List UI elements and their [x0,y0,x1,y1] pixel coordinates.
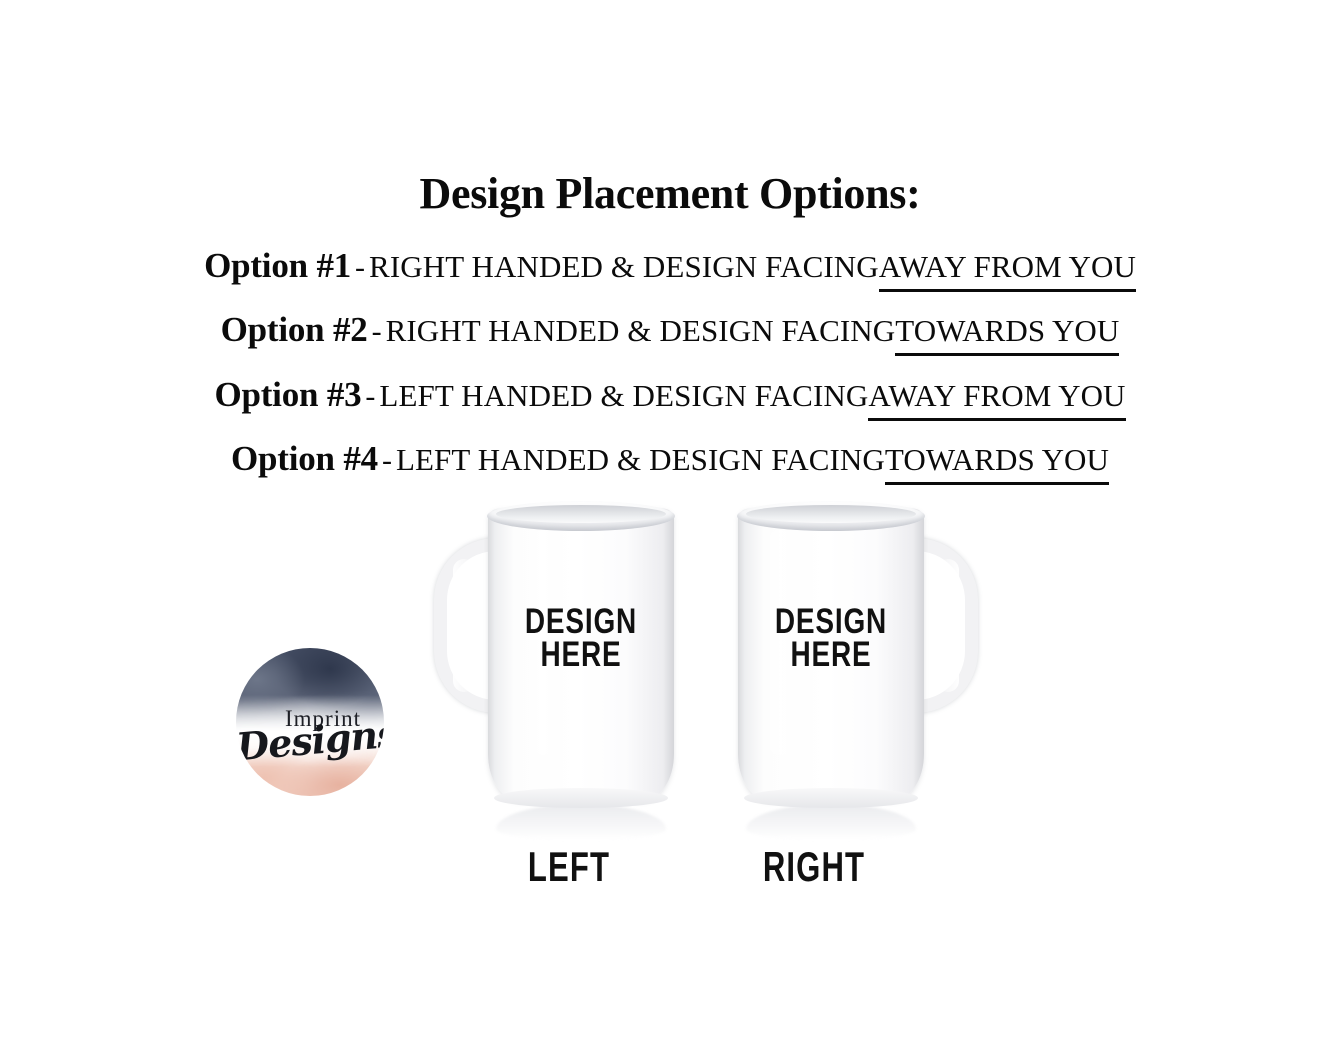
mug-right-print: DESIGN HERE [757,606,906,671]
mug-left-rim [487,501,675,531]
option-3-body: LEFT HANDED & DESIGN FACING [379,378,868,413]
option-3-emphasis: AWAY FROM YOU [868,378,1125,421]
option-4-body: LEFT HANDED & DESIGN FACING [396,442,885,477]
mug-left: DESIGN HERE LEFT [432,508,712,838]
mug-left-caption: LEFT [465,843,672,891]
mug-right-print-line-1: DESIGN [757,606,906,639]
mug-left-reflection [496,804,666,840]
option-line-2: Option #2-RIGHT HANDED & DESIGN FACINGTO… [0,312,1340,347]
option-2-body: RIGHT HANDED & DESIGN FACING [386,313,896,348]
option-3-label: Option #3 [214,375,361,414]
option-line-1: Option #1-RIGHT HANDED & DESIGN FACINGAW… [0,248,1340,283]
mug-left-rim-inner [496,505,666,523]
option-4-label: Option #4 [231,439,378,478]
mug-right-rim-inner [746,505,916,523]
option-1-body: RIGHT HANDED & DESIGN FACING [369,249,879,284]
option-1-dash: - [351,251,369,284]
page-title: Design Placement Options: [0,172,1340,216]
option-line-4: Option #4-LEFT HANDED & DESIGN FACINGTOW… [0,441,1340,476]
mug-right-print-line-2: HERE [757,639,906,672]
mug-right-caption: RIGHT [710,843,917,891]
brand-logo-watermark: Imprint Designs [236,648,384,796]
option-1-label: Option #1 [204,246,351,285]
mug-left-print: DESIGN HERE [507,606,656,671]
option-4-dash: - [378,444,396,477]
mug-right: DESIGN HERE RIGHT [700,508,980,838]
option-4-emphasis: TOWARDS YOU [885,442,1109,485]
mug-right-rim [737,501,925,531]
option-2-emphasis: TOWARDS YOU [895,313,1119,356]
mug-right-reflection [746,804,916,840]
option-2-dash: - [368,315,386,348]
option-1-emphasis: AWAY FROM YOU [879,249,1136,292]
mug-left-base [494,788,668,808]
design-placement-graphic: Design Placement Options: Option #1-RIGH… [0,0,1340,1060]
option-2-label: Option #2 [221,310,368,349]
mug-left-print-line-1: DESIGN [507,606,656,639]
mug-right-base [744,788,918,808]
option-line-3: Option #3-LEFT HANDED & DESIGN FACINGAWA… [0,377,1340,412]
mug-left-print-line-2: HERE [507,639,656,672]
option-3-dash: - [361,380,379,413]
